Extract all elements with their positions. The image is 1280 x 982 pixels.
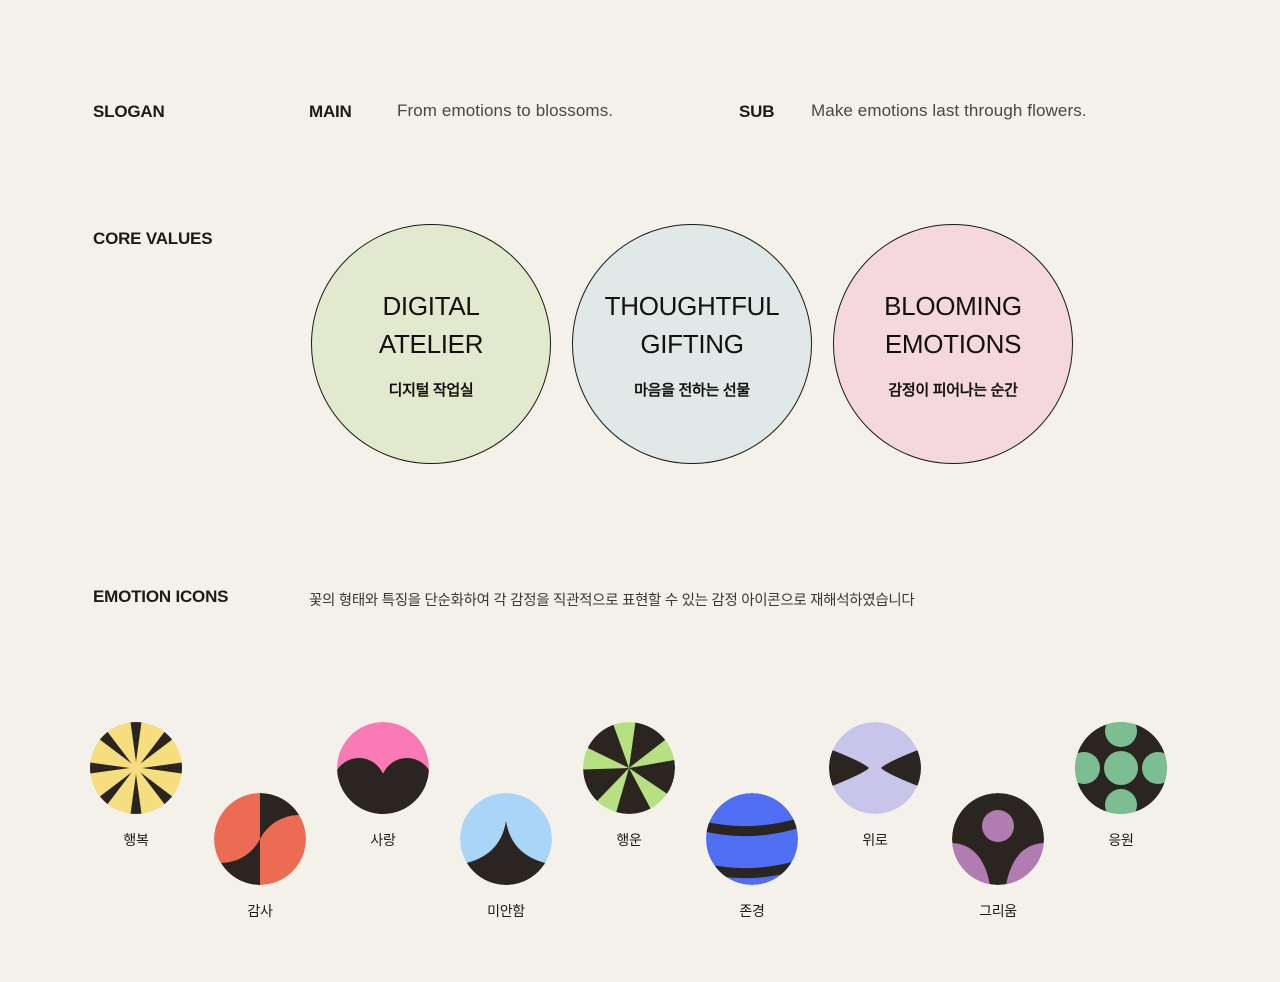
emotion-icon-caption: 존경	[677, 901, 827, 921]
slogan-main-text: From emotions to blossoms.	[397, 101, 613, 121]
emotion-icon-item: 응원	[1046, 722, 1196, 850]
brand-guide-page: SLOGAN MAIN From emotions to blossoms. S…	[0, 0, 1280, 982]
pinwheel-petal-icon	[214, 793, 306, 885]
core-value-title: DIGITAL ATELIER	[379, 288, 483, 363]
emotion-icons-description: 꽃의 형태와 특징을 단순화하여 각 감정을 직관적으로 표현할 수 있는 감정…	[309, 589, 914, 610]
emotion-icon-caption: 미안함	[431, 901, 581, 921]
emotion-icon-caption: 응원	[1046, 830, 1196, 850]
banded-sphere-icon	[706, 793, 798, 885]
five-dots-icon	[1075, 722, 1167, 814]
core-value-circle-thoughtful-gifting: THOUGHTFUL GIFTING 마음을 전하는 선물	[572, 224, 812, 464]
core-value-subtitle: 마음을 전하는 선물	[634, 379, 750, 400]
core-value-subtitle: 디지털 작업실	[389, 379, 474, 400]
core-value-circle-blooming-emotions: BLOOMING EMOTIONS 감정이 피어나는 순간	[833, 224, 1073, 464]
core-value-title: BLOOMING EMOTIONS	[884, 288, 1022, 363]
emotion-icons-section-label: EMOTION ICONS	[93, 587, 228, 607]
core-value-title: THOUGHTFUL GIFTING	[605, 288, 780, 363]
emotion-icon-caption: 그리움	[923, 901, 1073, 921]
core-value-subtitle: 감정이 피어나는 순간	[888, 379, 1017, 400]
pinwheel-blades-icon	[583, 722, 675, 814]
slogan-sub-text: Make emotions last through flowers.	[811, 101, 1087, 121]
slogan-section-label: SLOGAN	[93, 102, 165, 122]
emotion-icon-caption: 감사	[185, 901, 335, 921]
sunburst-icon	[90, 722, 182, 814]
core-value-circle-digital-atelier: DIGITAL ATELIER 디지털 작업실	[311, 224, 551, 464]
core-values-section-label: CORE VALUES	[93, 229, 212, 249]
slogan-main-key: MAIN	[309, 102, 352, 122]
inward-wedges-icon	[829, 722, 921, 814]
mountain-peak-icon	[460, 793, 552, 885]
figure-silhouette-icon	[952, 793, 1044, 885]
slogan-sub-key: SUB	[739, 102, 774, 122]
heart-valley-icon	[337, 722, 429, 814]
